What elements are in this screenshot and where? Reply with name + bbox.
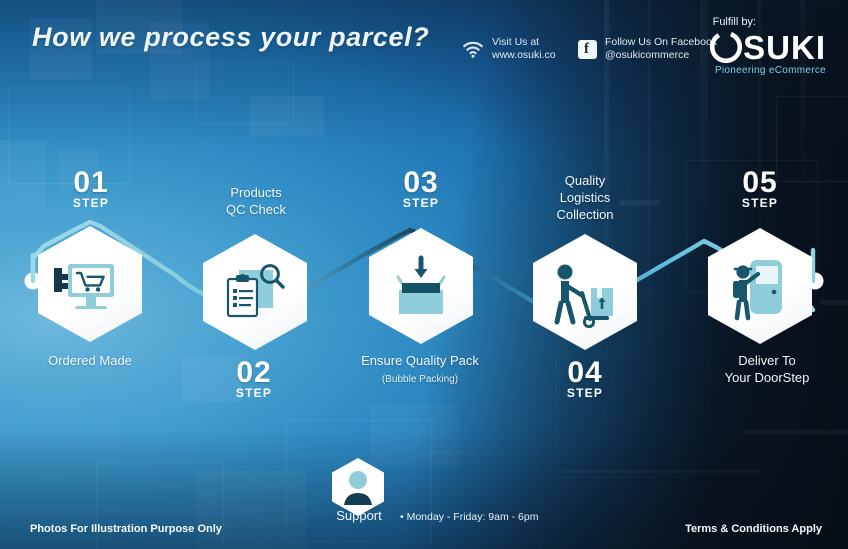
osuki-o-icon [709, 30, 743, 64]
step-02-caption-line1: Products [230, 185, 281, 200]
step-04-caption-line1: Quality [565, 173, 605, 188]
step-02-caption-line2: QC Check [226, 202, 286, 217]
person-handtruck-icon [533, 234, 637, 350]
step-03-hexagon[interactable] [369, 228, 473, 344]
visit-us-text: Visit Us at www.osuki.co [492, 36, 556, 62]
footer-terms[interactable]: Terms & Conditions Apply [685, 523, 822, 535]
visit-us-line1: Visit Us at [492, 36, 539, 48]
facebook-icon [578, 40, 597, 59]
step-01-number: 01 [52, 168, 130, 197]
step-02-caption: Products QC Check [186, 184, 326, 218]
support-hours: • Monday - Friday: 9am - 6pm [400, 511, 538, 523]
facebook-line1: Follow Us On Facebook [605, 36, 717, 48]
infographic-poster: How we process your parcel? Visit Us at … [0, 0, 848, 549]
step-05-caption: Deliver To Your DoorStep [694, 352, 840, 386]
step-05-caption-line2: Your DoorStep [725, 370, 810, 385]
step-05-hexagon[interactable] [708, 228, 812, 344]
wifi-icon [462, 40, 484, 58]
step-01-caption-text: Ordered Made [48, 353, 132, 368]
page-title: How we process your parcel? [32, 22, 429, 53]
step-04-hexagon[interactable] [533, 234, 637, 350]
step-05-number-block: 05 STEP [721, 168, 799, 210]
step-03-number: 03 [382, 168, 460, 197]
step-05-step-label: STEP [721, 197, 799, 210]
facebook-text: Follow Us On Facebook @osukicommerce [605, 36, 717, 62]
facebook-line2: @osukicommerce [605, 49, 689, 61]
step-05-caption-line1: Deliver To [738, 353, 796, 368]
step-05-number: 05 [721, 168, 799, 197]
step-04-caption: Quality Logistics Collection [520, 172, 650, 223]
step-03-caption-sub: (Bubble Packing) [382, 374, 458, 385]
step-02-number: 02 [215, 358, 293, 387]
visit-us-line2: www.osuki.co [492, 49, 556, 61]
osuki-logo: SUKI Pioneering eCommerce [709, 30, 826, 76]
step-01-hexagon[interactable] [38, 226, 142, 342]
step-04-step-label: STEP [546, 387, 624, 400]
fulfill-by-label: Fulfill by: [713, 16, 756, 28]
step-01-number-block: 01 STEP [52, 168, 130, 210]
osuki-tagline: Pioneering eCommerce [709, 65, 826, 76]
open-box-arrow-icon [369, 228, 473, 344]
facebook-block[interactable]: Follow Us On Facebook @osukicommerce [578, 36, 717, 62]
step-02-step-label: STEP [215, 387, 293, 400]
step-03-number-block: 03 STEP [382, 168, 460, 210]
support-label: Support [330, 508, 388, 523]
step-04-caption-line3: Collection [556, 207, 613, 222]
osuki-wordmark: SUKI [743, 31, 826, 64]
monitor-cart-icon [38, 226, 142, 342]
step-01-step-label: STEP [52, 197, 130, 210]
footer-disclaimer: Photos For Illustration Purpose Only [30, 523, 222, 535]
step-02-number-block: 02 STEP [215, 358, 293, 400]
step-04-number-block: 04 STEP [546, 358, 624, 400]
step-04-caption-line2: Logistics [560, 190, 611, 205]
step-03-caption: Ensure Quality Pack (Bubble Packing) [340, 352, 500, 387]
person-door-icon [708, 228, 812, 344]
step-01-caption: Ordered Made [20, 352, 160, 369]
step-03-caption-text: Ensure Quality Pack [361, 353, 479, 368]
step-03-step-label: STEP [382, 197, 460, 210]
clipboard-magnifier-icon [203, 234, 307, 350]
step-02-hexagon[interactable] [203, 234, 307, 350]
step-04-number: 04 [546, 358, 624, 387]
visit-us-block[interactable]: Visit Us at www.osuki.co [462, 36, 556, 62]
